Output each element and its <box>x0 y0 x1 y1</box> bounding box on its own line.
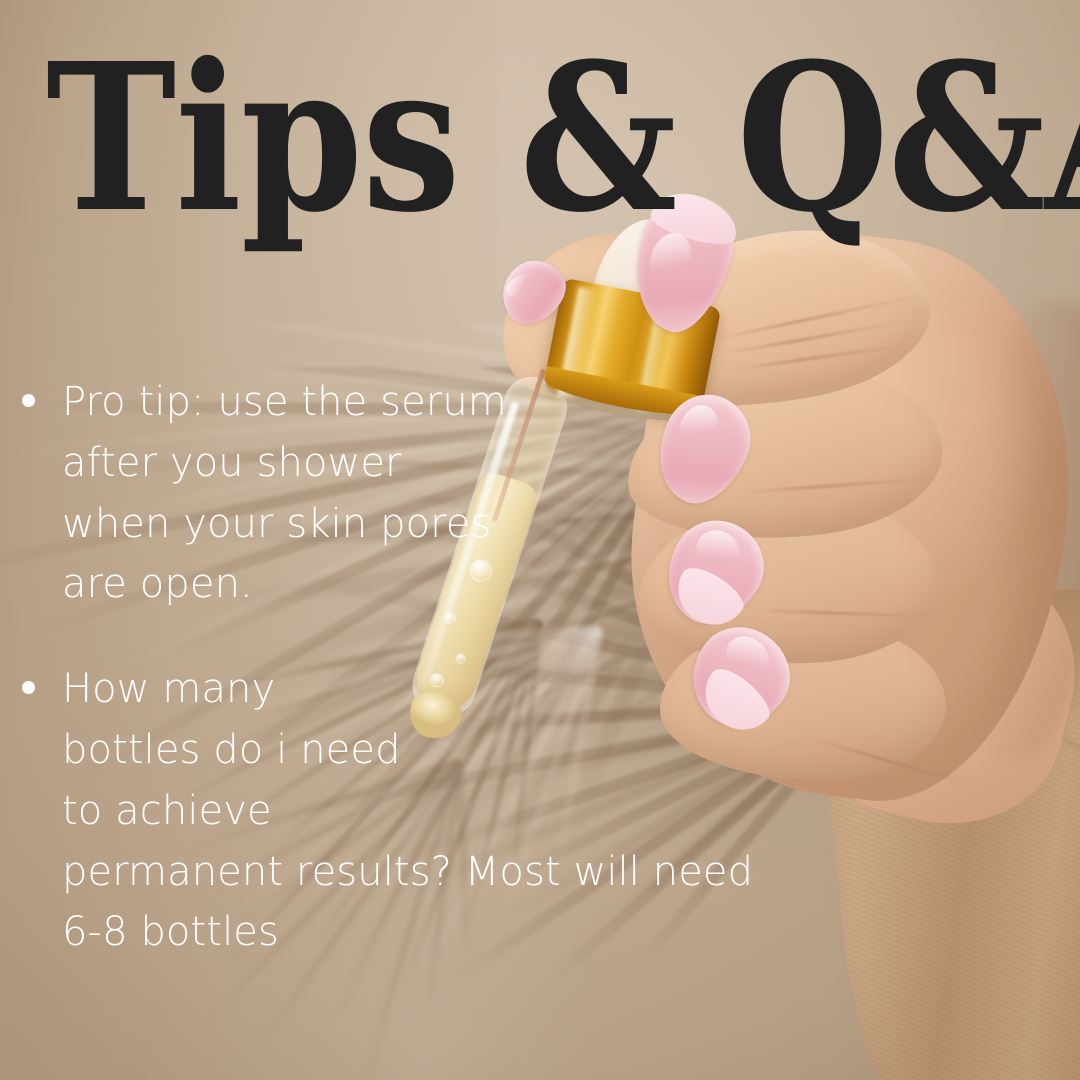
bullet-line: Pro tip: use the serum <box>62 372 918 433</box>
bullet-point-icon <box>22 394 35 407</box>
bullet-line: permanent results? Most will need <box>62 842 918 903</box>
bullet-line: to achieve <box>62 781 918 842</box>
body-copy: Pro tip: use the serum after you shower … <box>18 372 918 963</box>
bullet-line: How many <box>62 659 918 720</box>
bullet-item-pro-tip: Pro tip: use the serum after you shower … <box>18 372 918 615</box>
bullet-line: 6-8 bottles <box>62 902 918 963</box>
bullet-item-how-many-bottles: How many bottles do i need to achieve pe… <box>18 659 918 963</box>
bullet-line: after you shower <box>62 433 918 494</box>
bullet-line: bottles do i need <box>62 720 918 781</box>
bullet-line: are open. <box>62 554 918 615</box>
post-canvas: Tips & Q&A <box>0 0 1080 1080</box>
bullet-point-icon <box>22 681 35 694</box>
bullet-line: when your skin pores <box>62 494 918 555</box>
page-title: Tips & Q&A <box>46 42 1056 237</box>
